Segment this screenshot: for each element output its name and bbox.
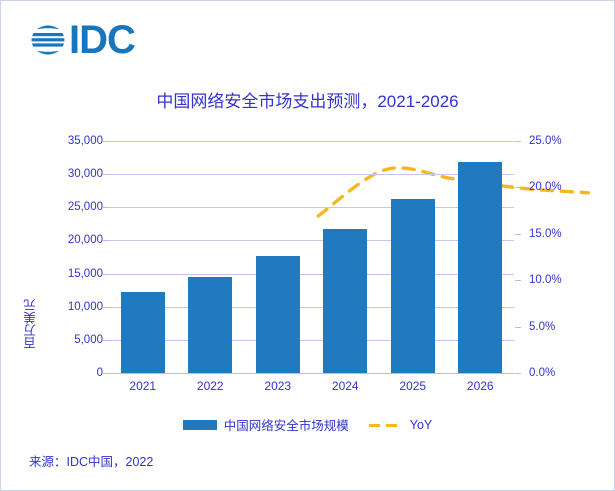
- legend-bar-swatch-icon: [183, 420, 217, 430]
- y-axis-left-tick-label: 5,000: [39, 334, 103, 346]
- y-axis-left-tick-label: 25,000: [39, 201, 103, 213]
- y-axis-left-tick: [103, 141, 109, 142]
- y-axis-right-tick: [515, 187, 521, 188]
- legend-label: 中国网络安全市场规模: [224, 415, 349, 434]
- gridline: [109, 240, 514, 241]
- y-axis-right-tick-label: 25.0%: [529, 135, 599, 147]
- y-axis-right-tick: [515, 327, 521, 328]
- legend-dashed-line-icon: [369, 420, 403, 430]
- y-axis-left-tick: [103, 207, 109, 208]
- bar-2024: [323, 229, 367, 373]
- idc-logo-text: IDC: [69, 21, 135, 59]
- y-axis-left-tick: [103, 240, 109, 241]
- y-axis-right-tick: [515, 234, 521, 235]
- y-axis-right-tick-label: 10.0%: [529, 274, 599, 286]
- legend-label: YoY: [410, 418, 432, 432]
- y-axis-left-tick: [103, 340, 109, 341]
- y-axis-right-tick-label: 5.0%: [529, 321, 599, 333]
- x-axis-tick-label: 2021: [129, 379, 156, 393]
- bar-2022: [188, 277, 232, 373]
- idc-globe-icon: [29, 21, 67, 59]
- x-axis-tick-label: 2022: [197, 379, 224, 393]
- y-axis-left-tick: [103, 373, 109, 374]
- x-axis-tick-label: 2023: [264, 379, 291, 393]
- y-axis-left-tick-label: 15,000: [39, 268, 103, 280]
- y-axis-left-tick-label: 30,000: [39, 168, 103, 180]
- gridline: [109, 340, 514, 341]
- y-axis-right-tick: [515, 373, 521, 374]
- bar-2026: [458, 162, 502, 373]
- y-axis-left-tick-label: 10,000: [39, 301, 103, 313]
- gridline: [109, 307, 514, 308]
- plot-canvas: [109, 141, 514, 373]
- legend-item[interactable]: YoY: [369, 418, 432, 432]
- y-axis-right-tick: [515, 141, 521, 142]
- y-axis-left-tick-label: 20,000: [39, 234, 103, 246]
- gridline: [109, 207, 514, 208]
- chart-legend: 中国网络安全市场规模YoY: [1, 415, 614, 434]
- chart-title: 中国网络安全市场支出预测，2021-2026: [1, 87, 614, 112]
- y-axis-left-tick: [103, 174, 109, 175]
- bar-2023: [256, 256, 300, 373]
- source-note: 来源：IDC中国，2022: [29, 451, 153, 470]
- bar-2025: [391, 199, 435, 373]
- legend-item[interactable]: 中国网络安全市场规模: [183, 415, 349, 434]
- y-axis-right-tick-label: 15.0%: [529, 228, 599, 240]
- y-axis-right-tick-label: 20.0%: [529, 181, 599, 193]
- x-axis-tick-label: 2024: [332, 379, 359, 393]
- x-axis-tick-label: 2026: [467, 379, 494, 393]
- y-axis-left-tick: [103, 274, 109, 275]
- y-axis-right-tick: [515, 280, 521, 281]
- y-axis-left-tick-label: 35,000: [39, 135, 103, 147]
- y-axis-right-tick-label: 0.0%: [529, 367, 599, 379]
- bar-2021: [121, 292, 165, 373]
- plot-area: 百万美元 05,00010,00015,00020,00025,00030,00…: [1, 131, 615, 386]
- y-axis-left-tick: [103, 307, 109, 308]
- x-axis-line: [109, 373, 514, 374]
- y-axis-title-left: 百万美元: [21, 299, 40, 349]
- idc-logo: IDC: [29, 21, 135, 59]
- gridline: [109, 174, 514, 175]
- gridline: [109, 274, 514, 275]
- x-axis-tick-label: 2025: [399, 379, 426, 393]
- chart-figure: IDC 中国网络安全市场支出预测，2021-2026 百万美元 05,00010…: [0, 0, 615, 491]
- y-axis-left-tick-label: 0: [39, 367, 103, 379]
- gridline: [109, 141, 514, 142]
